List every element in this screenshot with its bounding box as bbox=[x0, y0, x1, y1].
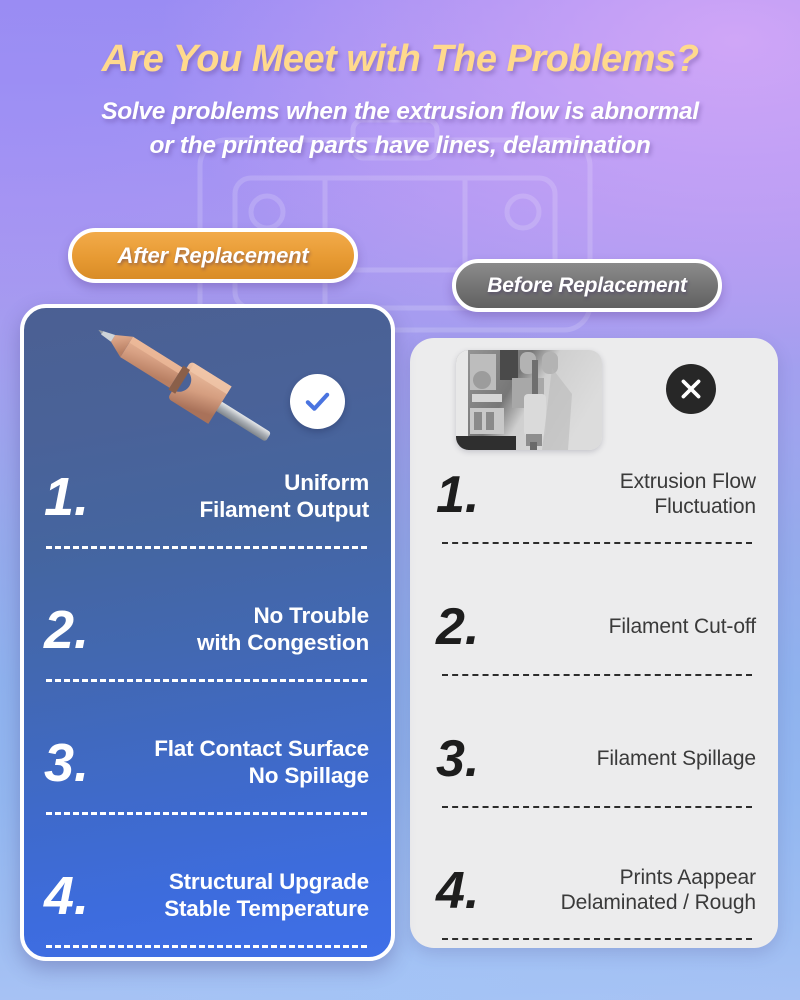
item-line-1: Structural Upgrade bbox=[136, 869, 369, 896]
separator bbox=[442, 542, 752, 544]
item-line-2: Filament Output bbox=[136, 497, 369, 524]
item-line-1: Filament Cut-off bbox=[528, 615, 756, 640]
page-title: Are You Meet with The Problems? bbox=[0, 38, 800, 81]
item-number: 3. bbox=[44, 736, 136, 790]
item-line-1: Flat Contact Surface bbox=[136, 736, 369, 763]
item-line-2: Fluctuation bbox=[528, 495, 756, 520]
item-number: 4. bbox=[44, 869, 136, 923]
list-item: 3. Filament Spillage bbox=[436, 720, 756, 808]
separator bbox=[46, 546, 367, 549]
extruder-photo bbox=[456, 350, 602, 450]
badge-before-replacement: Before Replacement bbox=[452, 259, 722, 312]
separator bbox=[46, 945, 367, 948]
item-number: 4. bbox=[436, 865, 528, 917]
list-item: 1. Extrusion Flow Fluctuation bbox=[436, 456, 756, 544]
before-replacement-card: 1. Extrusion Flow Fluctuation 2. Filamen… bbox=[410, 338, 778, 948]
hotend-nozzle-image bbox=[66, 318, 316, 468]
after-replacement-card: 1. Uniform Filament Output 2. No Trouble… bbox=[20, 304, 395, 961]
item-number: 1. bbox=[44, 470, 136, 524]
item-line-1: Uniform bbox=[136, 470, 369, 497]
after-benefit-list: 1. Uniform Filament Output 2. No Trouble… bbox=[24, 458, 391, 948]
badge-after-replacement: After Replacement bbox=[68, 228, 358, 283]
before-problem-list: 1. Extrusion Flow Fluctuation 2. Filamen… bbox=[410, 456, 778, 940]
list-item: 3. Flat Contact Surface No Spillage bbox=[44, 724, 369, 815]
list-item: 4. Prints Aappear Delaminated / Rough bbox=[436, 852, 756, 940]
item-text: Extrusion Flow Fluctuation bbox=[528, 470, 756, 520]
item-text: Filament Spillage bbox=[528, 747, 756, 772]
separator bbox=[46, 679, 367, 682]
separator bbox=[442, 674, 752, 676]
item-text: Prints Aappear Delaminated / Rough bbox=[528, 866, 756, 916]
item-number: 2. bbox=[436, 601, 528, 653]
item-text: Structural Upgrade Stable Temperature bbox=[136, 869, 369, 922]
separator bbox=[442, 938, 752, 940]
item-text: No Trouble with Congestion bbox=[136, 603, 369, 656]
item-line-1: No Trouble bbox=[136, 603, 369, 630]
item-text: Uniform Filament Output bbox=[136, 470, 369, 523]
item-number: 1. bbox=[436, 469, 528, 521]
item-text: Flat Contact Surface No Spillage bbox=[136, 736, 369, 789]
item-line-2: Delaminated / Rough bbox=[528, 891, 756, 916]
item-line-2: with Congestion bbox=[136, 630, 369, 657]
subtitle-line-2: or the printed parts have lines, delamin… bbox=[0, 129, 800, 163]
list-item: 2. No Trouble with Congestion bbox=[44, 591, 369, 682]
x-circle-icon bbox=[666, 364, 716, 414]
item-line-2: No Spillage bbox=[136, 763, 369, 790]
list-item: 2. Filament Cut-off bbox=[436, 588, 756, 676]
item-line-2: Stable Temperature bbox=[136, 896, 369, 923]
badge-after-label: After Replacement bbox=[118, 243, 309, 269]
item-text: Filament Cut-off bbox=[528, 615, 756, 640]
subtitle-line-1: Solve problems when the extrusion flow i… bbox=[0, 95, 800, 129]
check-circle-icon bbox=[290, 374, 345, 429]
item-number: 3. bbox=[436, 733, 528, 785]
page-subtitle: Solve problems when the extrusion flow i… bbox=[0, 95, 800, 163]
item-line-1: Extrusion Flow bbox=[528, 470, 756, 495]
list-item: 1. Uniform Filament Output bbox=[44, 458, 369, 549]
separator bbox=[442, 806, 752, 808]
item-line-1: Filament Spillage bbox=[528, 747, 756, 772]
item-line-1: Prints Aappear bbox=[528, 866, 756, 891]
item-number: 2. bbox=[44, 603, 136, 657]
list-item: 4. Structural Upgrade Stable Temperature bbox=[44, 857, 369, 948]
badge-before-label: Before Replacement bbox=[487, 274, 686, 298]
header-block: Are You Meet with The Problems? Solve pr… bbox=[0, 38, 800, 163]
separator bbox=[46, 812, 367, 815]
